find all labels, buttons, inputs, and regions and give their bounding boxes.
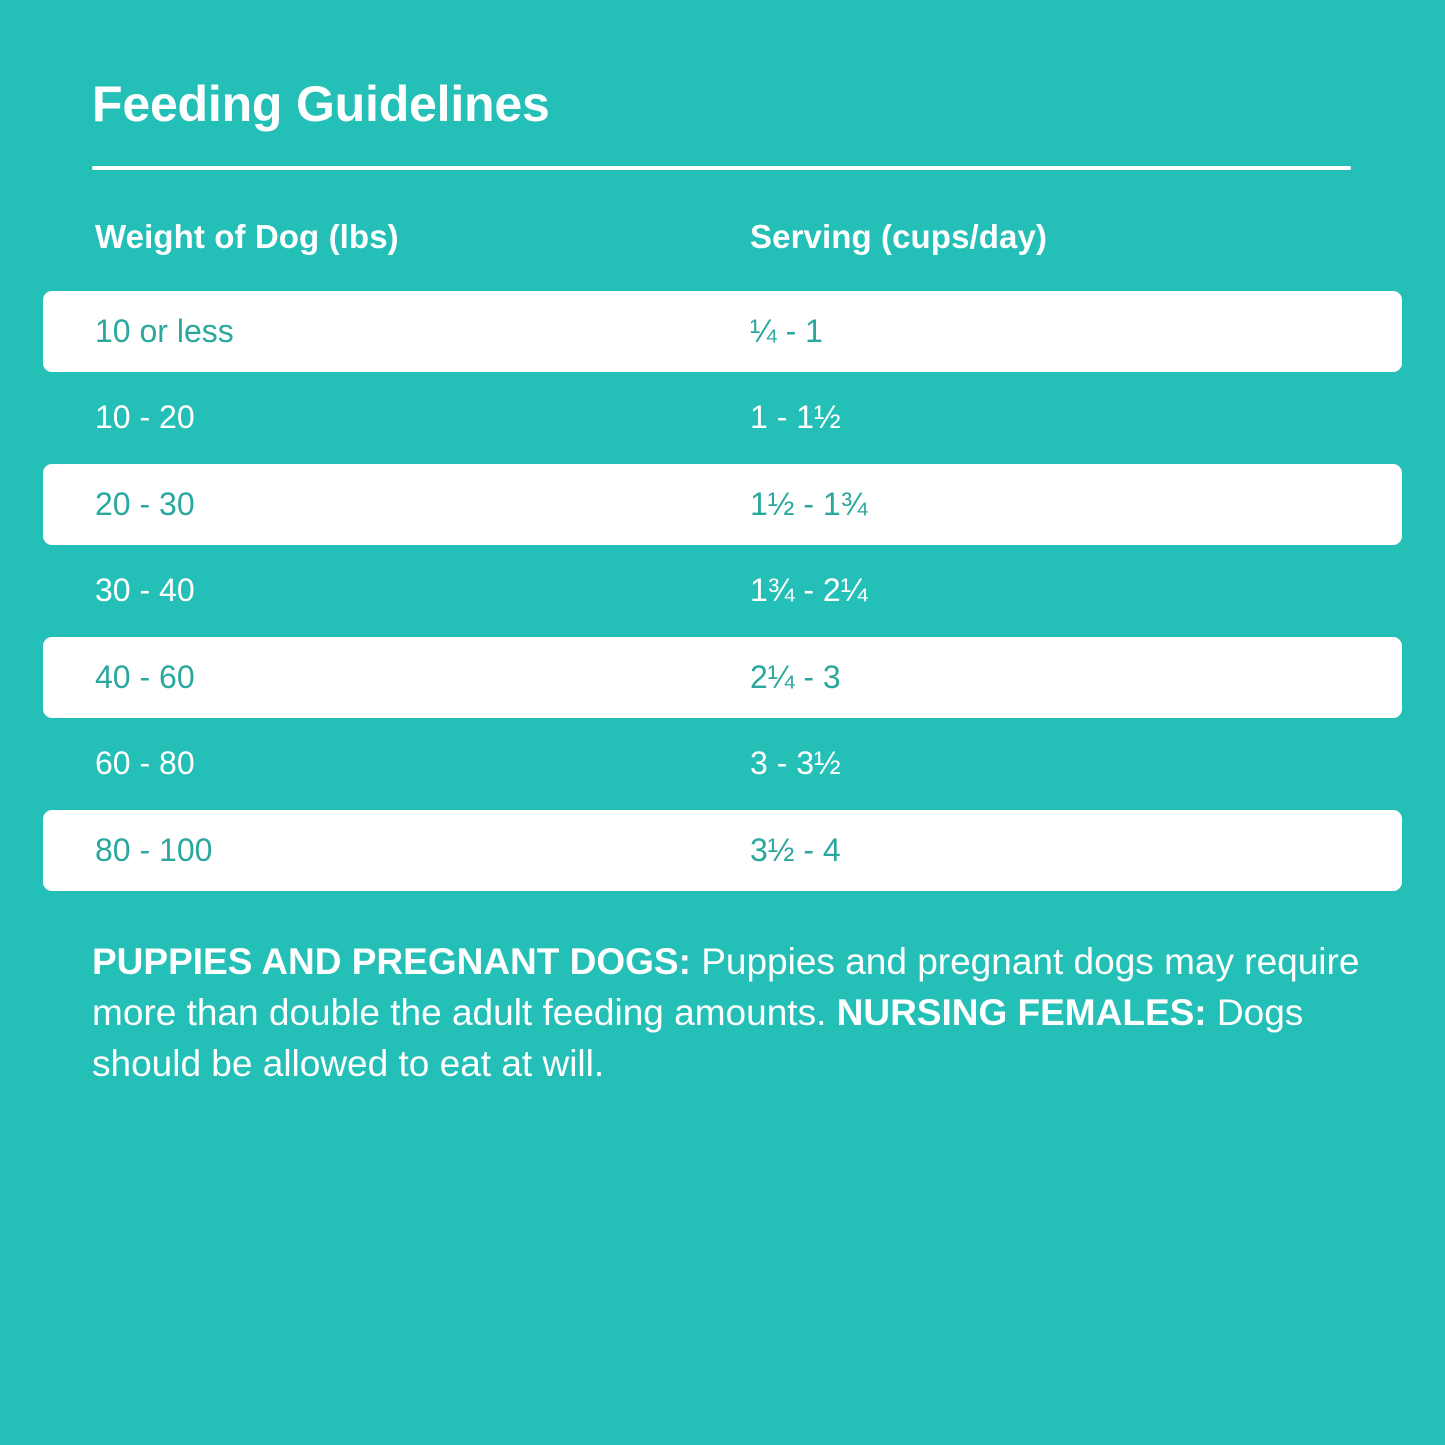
cell-weight: 30 - 40 xyxy=(95,572,195,609)
cell-weight: 10 - 20 xyxy=(95,399,195,436)
cell-serving: 1½ - 1¾ xyxy=(750,486,867,523)
table-body: 10 or less¼ - 110 - 201 - 1½20 - 301½ - … xyxy=(0,288,1445,894)
footnote-label-puppies: PUPPIES AND PREGNANT DOGS: xyxy=(92,941,691,982)
cell-serving: 2¼ - 3 xyxy=(750,659,841,696)
table-row: 10 or less¼ - 1 xyxy=(0,288,1445,375)
cell-serving: 1 - 1½ xyxy=(750,399,841,436)
cell-serving: 3 - 3½ xyxy=(750,745,841,782)
column-header-serving: Serving (cups/day) xyxy=(750,218,1047,256)
table-row: 20 - 301½ - 1¾ xyxy=(0,461,1445,548)
column-header-weight: Weight of Dog (lbs) xyxy=(95,218,399,256)
table-header-row: Weight of Dog (lbs) Serving (cups/day) xyxy=(0,206,1445,288)
table-row: 10 - 201 - 1½ xyxy=(0,375,1445,462)
cell-weight: 10 or less xyxy=(95,313,234,350)
table-row: 60 - 803 - 3½ xyxy=(0,721,1445,808)
cell-serving: 3½ - 4 xyxy=(750,832,841,869)
feeding-table: Weight of Dog (lbs) Serving (cups/day) 1… xyxy=(0,206,1445,894)
table-row: 40 - 602¼ - 3 xyxy=(0,634,1445,721)
footnote-text: PUPPIES AND PREGNANT DOGS: Puppies and p… xyxy=(92,936,1377,1089)
cell-serving: ¼ - 1 xyxy=(750,313,823,350)
table-row: 80 - 1003½ - 4 xyxy=(0,807,1445,894)
feeding-guidelines-panel: Feeding Guidelines Weight of Dog (lbs) S… xyxy=(0,0,1445,1445)
page-title: Feeding Guidelines xyxy=(92,77,550,132)
cell-weight: 80 - 100 xyxy=(95,832,212,869)
table-row: 30 - 401¾ - 2¼ xyxy=(0,548,1445,635)
cell-weight: 60 - 80 xyxy=(95,745,195,782)
title-divider xyxy=(92,166,1351,170)
cell-weight: 20 - 30 xyxy=(95,486,195,523)
footnote-label-nursing: NURSING FEMALES: xyxy=(837,992,1207,1033)
cell-serving: 1¾ - 2¼ xyxy=(750,572,867,609)
cell-weight: 40 - 60 xyxy=(95,659,195,696)
